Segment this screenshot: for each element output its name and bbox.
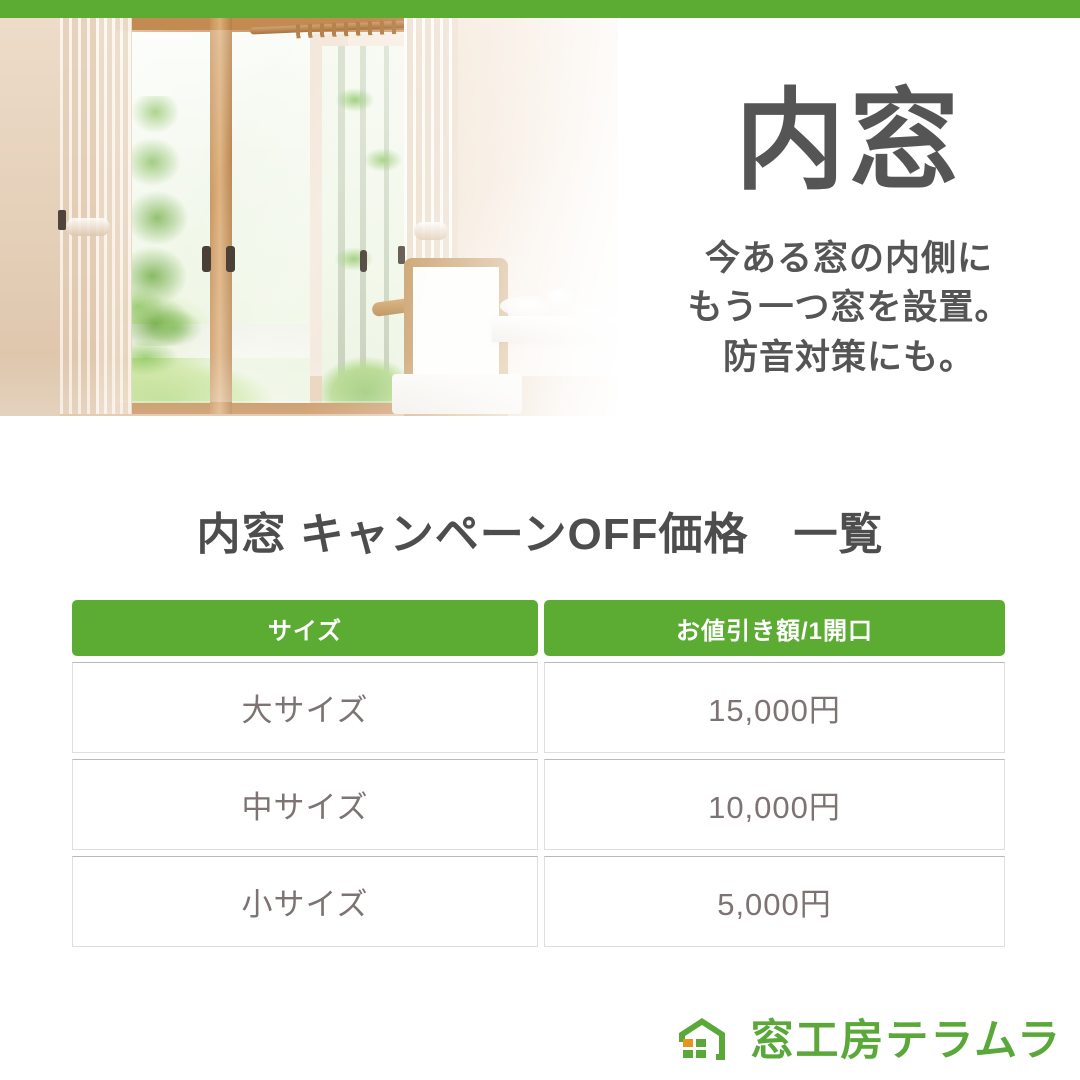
hero-subtitle-line-2: もう一つ窓を設置。 — [618, 283, 1080, 333]
house-window-icon — [676, 1016, 732, 1066]
cell-size: 大サイズ — [72, 662, 538, 753]
table-row: 中サイズ 10,000円 — [72, 759, 1005, 850]
photo-chair-seat — [392, 374, 522, 414]
photo-window-handle — [360, 250, 367, 272]
price-table: サイズ お値引き額/1開口 大サイズ 15,000円 中サイズ 10,000円 … — [72, 600, 1005, 947]
table-body: 大サイズ 15,000円 中サイズ 10,000円 小サイズ 5,000円 — [72, 662, 1005, 947]
photo-window-handle — [226, 246, 235, 272]
cell-discount: 10,000円 — [544, 759, 1005, 850]
hero-section: 内窓 今ある窓の内側に もう一つ窓を設置。 防音対策にも。 — [0, 18, 1080, 416]
company-logo: 窓工房テラムラ — [676, 1016, 1062, 1066]
photo-curtain-tieback — [414, 222, 448, 240]
photo-dining-table — [492, 316, 618, 342]
photo-window-mullion — [210, 18, 232, 414]
table-header-size: サイズ — [72, 600, 538, 656]
photo-plate — [500, 296, 552, 316]
cell-size: 中サイズ — [72, 759, 538, 850]
hero-photo — [0, 18, 618, 416]
hero-subtitle-line-3: 防音対策にも。 — [618, 333, 1080, 383]
promo-page: 内窓 今ある窓の内側に もう一つ窓を設置。 防音対策にも。 内窓 キャンペーンO… — [0, 0, 1080, 1080]
photo-window-frame — [96, 18, 424, 414]
photo-cup — [546, 288, 576, 310]
hero-subtitle: 今ある窓の内側に もう一つ窓を設置。 防音対策にも。 — [618, 234, 1080, 383]
hero-text-block: 内窓 今ある窓の内側に もう一つ窓を設置。 防音対策にも。 — [618, 36, 1080, 434]
table-row: 小サイズ 5,000円 — [72, 856, 1005, 947]
cell-size: 小サイズ — [72, 856, 538, 947]
table-header-row: サイズ お値引き額/1開口 — [72, 600, 1005, 656]
photo-sheer-curtain-left — [96, 18, 132, 414]
top-accent-bar — [0, 0, 1080, 18]
price-section-title: 内窓 キャンペーンOFF価格 一覧 — [0, 498, 1080, 562]
photo-curtain-tieback — [66, 218, 110, 236]
cell-discount: 5,000円 — [544, 856, 1005, 947]
photo-curtain-hook — [58, 210, 66, 230]
table-header-discount: お値引き額/1開口 — [544, 600, 1005, 656]
hero-subtitle-line-1: 今ある窓の内側に — [618, 234, 1080, 284]
photo-plate — [572, 304, 612, 320]
company-name: 窓工房テラムラ — [750, 1020, 1062, 1063]
cell-discount: 15,000円 — [544, 662, 1005, 753]
hero-title: 内窓 — [618, 84, 1080, 200]
photo-window-handle — [202, 246, 211, 272]
table-row: 大サイズ 15,000円 — [72, 662, 1005, 753]
